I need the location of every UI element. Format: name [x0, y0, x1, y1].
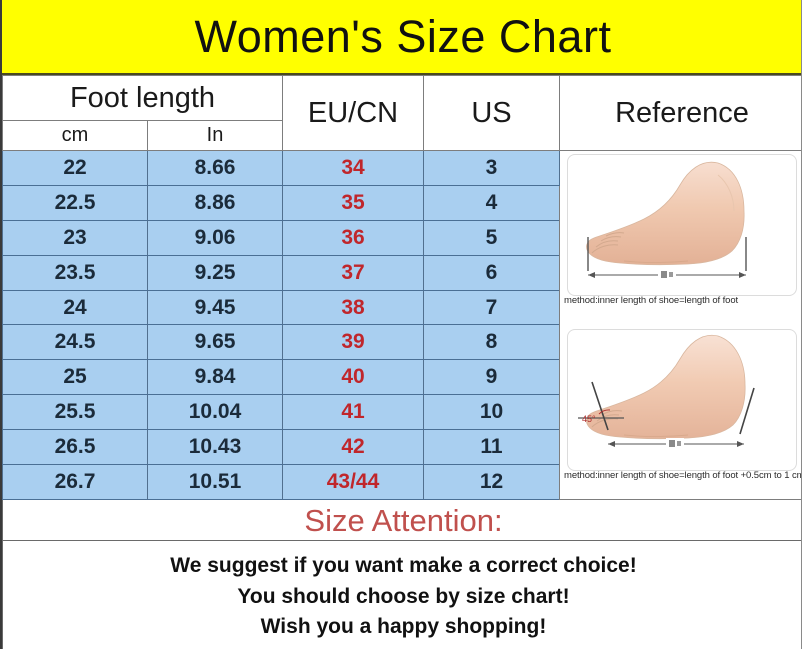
cell-in: 9.45	[148, 290, 283, 325]
angle-label: 45°	[582, 414, 596, 424]
cell-cm: 23.5	[3, 255, 148, 290]
cell-us: 11	[424, 430, 560, 465]
cell-in: 8.86	[148, 185, 283, 220]
cell-in: 9.84	[148, 360, 283, 395]
foot-side-view-photo-angled: 45°	[567, 329, 797, 471]
cell-us: 7	[424, 290, 560, 325]
header-in: In	[148, 121, 283, 151]
cell-in: 8.66	[148, 151, 283, 186]
cell-us: 12	[424, 465, 560, 500]
table-body: 22 8.66 34 3	[3, 151, 802, 649]
header-us: US	[424, 76, 560, 151]
cell-in: 10.43	[148, 430, 283, 465]
header-cm: cm	[3, 121, 148, 151]
attention-note-line: Wish you a happy shopping!	[3, 612, 802, 642]
cell-us: 4	[424, 185, 560, 220]
cell-eu: 39	[283, 325, 424, 360]
cell-eu: 42	[283, 430, 424, 465]
reference-caption-two: method:inner length of shoe=length of fo…	[560, 471, 802, 481]
foot-side-view-photo	[567, 154, 797, 296]
attention-note-line: You should choose by size chart!	[3, 582, 802, 612]
cell-us: 6	[424, 255, 560, 290]
cell-cm: 23	[3, 220, 148, 255]
table-header: Foot length EU/CN US Reference cm In	[3, 76, 802, 151]
size-chart-table: Foot length EU/CN US Reference cm In 22 …	[2, 75, 802, 649]
cell-eu: 43/44	[283, 465, 424, 500]
cell-cm: 26.7	[3, 465, 148, 500]
size-chart-root: Women's Size Chart Foot length EU/CN US …	[0, 0, 802, 649]
header-row-primary: Foot length EU/CN US Reference	[3, 76, 802, 121]
cell-eu: 41	[283, 395, 424, 430]
cell-cm: 24.5	[3, 325, 148, 360]
cell-eu: 35	[283, 185, 424, 220]
cell-cm: 22	[3, 151, 148, 186]
cell-in: 9.25	[148, 255, 283, 290]
cell-eu: 38	[283, 290, 424, 325]
attention-heading: Size Attention:	[3, 505, 802, 536]
cell-us: 8	[424, 325, 560, 360]
cell-cm: 22.5	[3, 185, 148, 220]
cell-in: 10.04	[148, 395, 283, 430]
attention-heading-row: Size Attention:	[3, 500, 802, 541]
reference-caption-one: method:inner length of shoe=length of fo…	[560, 296, 802, 306]
cell-us: 5	[424, 220, 560, 255]
cell-cm: 24	[3, 290, 148, 325]
cell-in: 9.65	[148, 325, 283, 360]
reference-diagram-one: method:inner length of shoe=length of fo…	[560, 154, 802, 326]
foot-diagram-icon	[568, 155, 796, 295]
cell-us: 9	[424, 360, 560, 395]
reference-diagram-two: 45° method:inner length of shoe=length o	[560, 329, 802, 501]
cell-us: 10	[424, 395, 560, 430]
table-row: 22 8.66 34 3	[3, 151, 802, 186]
attention-note-line: We suggest if you want make a correct ch…	[3, 551, 802, 581]
attention-notes-row: We suggest if you want make a correct ch…	[3, 541, 802, 649]
cell-eu: 40	[283, 360, 424, 395]
attention-heading-cell: Size Attention:	[3, 500, 802, 541]
header-foot-length: Foot length	[3, 76, 283, 121]
reference-cell: method:inner length of shoe=length of fo…	[560, 151, 802, 500]
cell-eu: 37	[283, 255, 424, 290]
cell-eu: 34	[283, 151, 424, 186]
cell-cm: 26.5	[3, 430, 148, 465]
foot-angle-diagram-icon: 45°	[568, 330, 796, 470]
page-title: Women's Size Chart	[195, 14, 612, 59]
cell-in: 9.06	[148, 220, 283, 255]
title-banner: Women's Size Chart	[2, 0, 802, 75]
cell-cm: 25.5	[3, 395, 148, 430]
header-eu-cn: EU/CN	[283, 76, 424, 151]
cell-us: 3	[424, 151, 560, 186]
cell-eu: 36	[283, 220, 424, 255]
cell-in: 10.51	[148, 465, 283, 500]
attention-notes-cell: We suggest if you want make a correct ch…	[3, 541, 802, 649]
cell-cm: 25	[3, 360, 148, 395]
header-reference: Reference	[560, 76, 802, 151]
reference-images: method:inner length of shoe=length of fo…	[560, 154, 802, 499]
